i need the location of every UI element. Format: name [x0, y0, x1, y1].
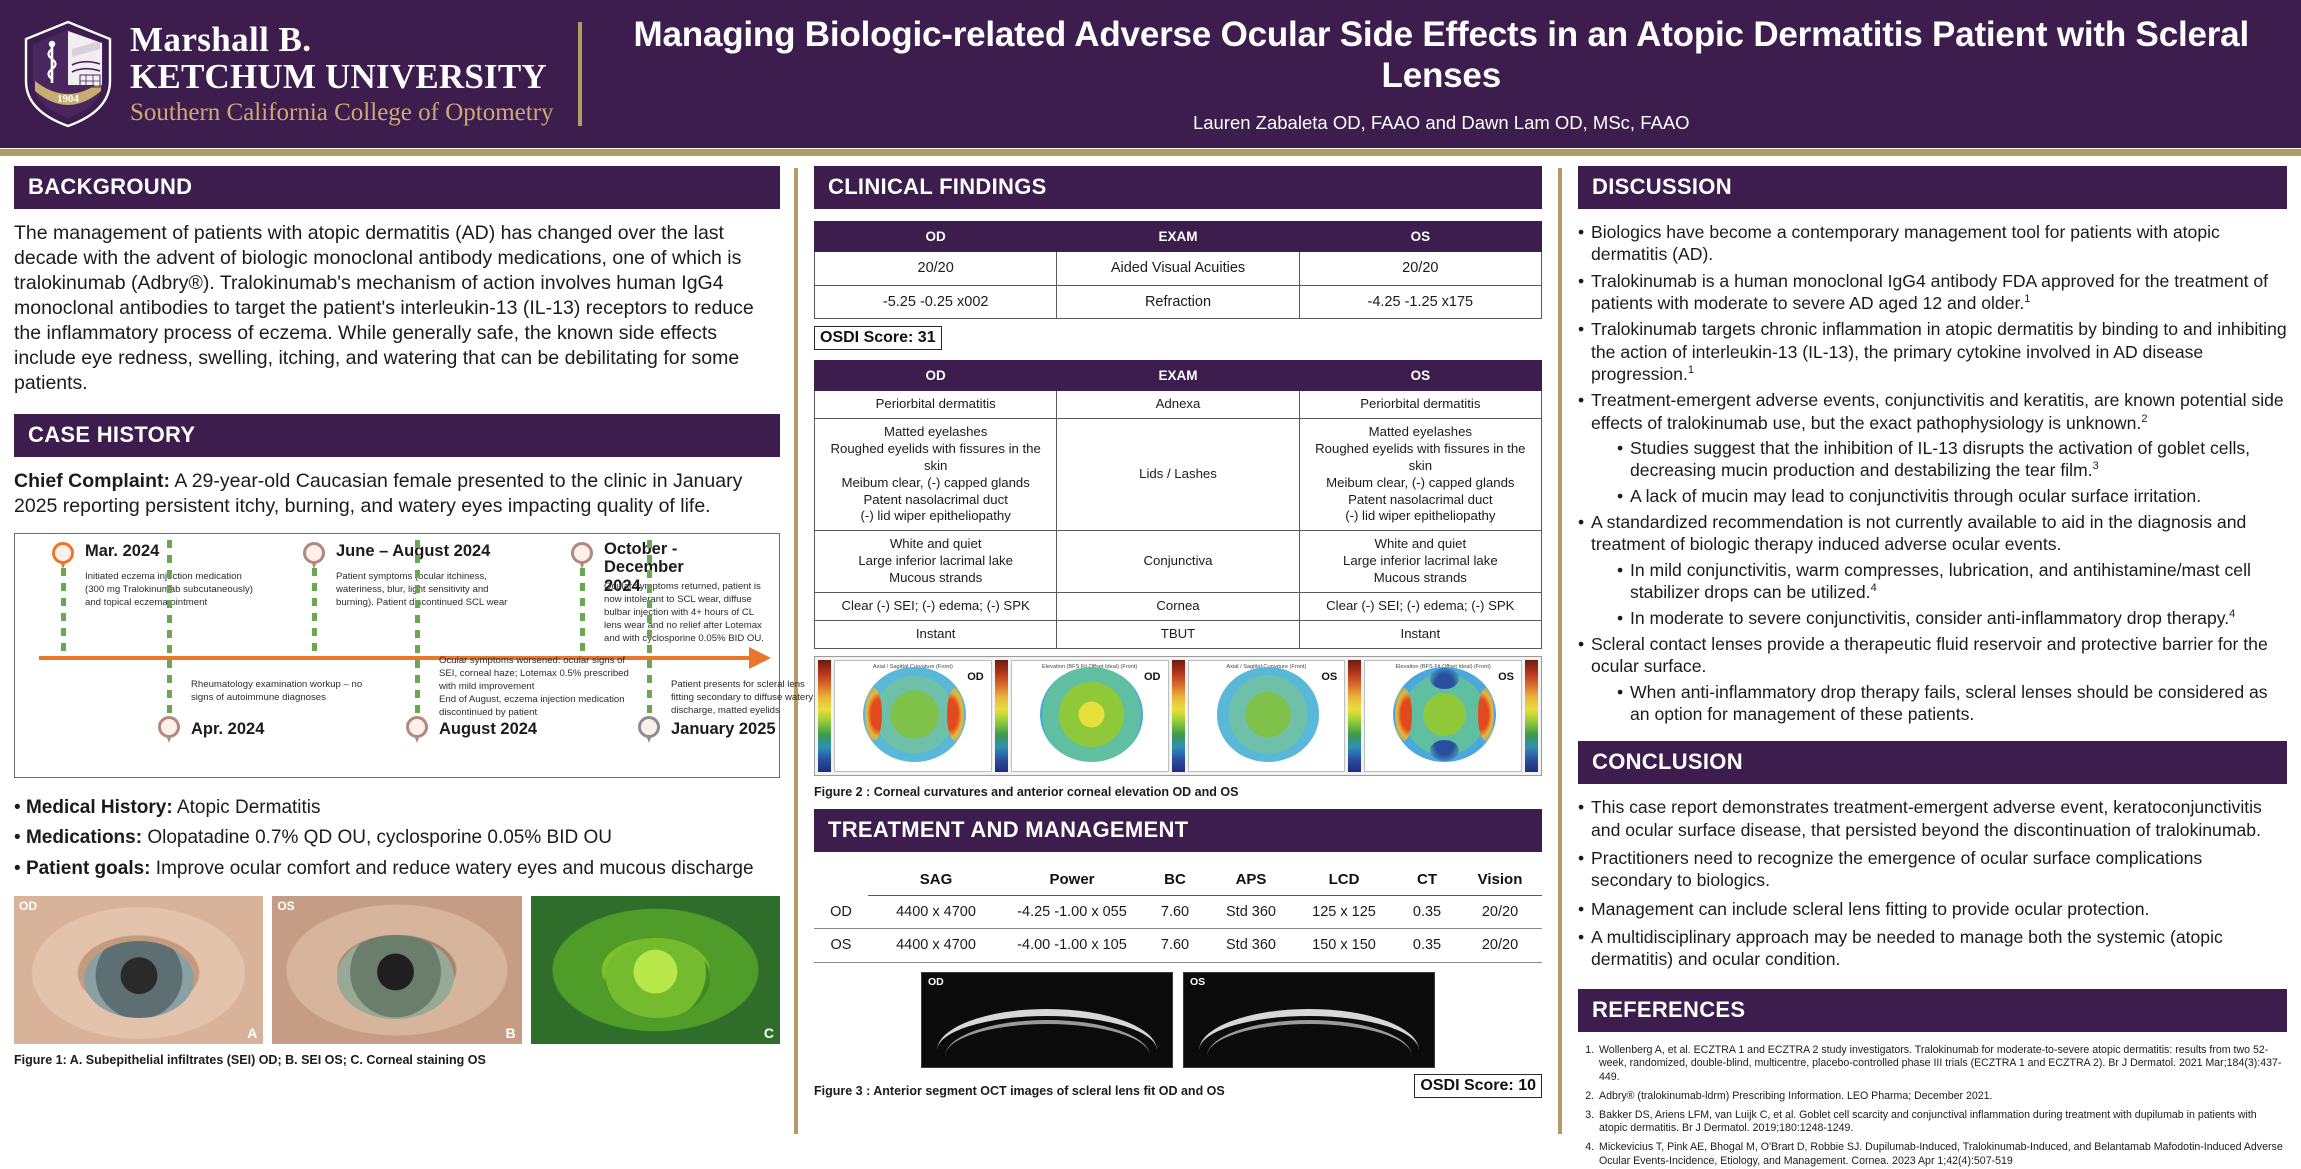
timeline-date-5: January 2025 [671, 720, 776, 738]
figure3-caption: Figure 3 : Anterior segment OCT images o… [814, 1084, 1225, 1098]
conclusion-list: This case report demonstrates treatment-… [1578, 796, 2287, 970]
topography-color-scale [1525, 660, 1538, 772]
figure3-oct-strip: OD OS [814, 972, 1542, 1068]
figure1-caption: Figure 1: A. Subepithelial infiltrates (… [14, 1053, 780, 1067]
table2-header-os: OS [1299, 361, 1541, 391]
citation-superscript: 4 [2229, 608, 2235, 620]
treatment-cell: -4.25 -1.00 x 055 [1004, 895, 1140, 929]
treatment-cell: 125 x 125 [1292, 895, 1396, 929]
treatment-cell: 0.35 [1396, 929, 1458, 963]
table1-cell: Refraction [1057, 285, 1299, 319]
treatment-cell: 7.60 [1140, 929, 1210, 963]
timeline-axis [39, 656, 749, 660]
citation-superscript: 4 [1871, 582, 1877, 594]
timeline-desc-0: Initiated eczema injection medication (3… [85, 570, 260, 609]
photo-panel-letter: B [506, 1025, 516, 1041]
table-row: Clear (-) SEI; (-) edema; (-) SPK Cornea… [815, 593, 1542, 621]
list-item: A lack of mucin may lead to conjunctivit… [1617, 485, 2287, 507]
topography-map-od-elevation: Elevation (BFS Fit Offset Ideal) (Front)… [1011, 660, 1169, 772]
header-gold-rule [0, 149, 2301, 156]
middle-column: CLINICAL FINDINGS OD EXAM OS 20/20 Aided… [798, 166, 1558, 1134]
treatment-header-vision: Vision [1458, 864, 1542, 896]
bullet-text: Improve ocular comfort and reduce watery… [151, 858, 754, 879]
figure1-photo-row: OD A OS B C [14, 896, 780, 1044]
list-item: Medications: Olopatadine 0.7% QD OU, cyc… [14, 824, 780, 852]
discussion-sublist: Studies suggest that the inhibition of I… [1617, 437, 2287, 507]
timeline-date-3: August 2024 [439, 720, 537, 738]
treatment-header-sag: SAG [868, 864, 1004, 896]
topography-map-os-elevation: Elevation (BFS Fit Offset Ideal) (Front)… [1364, 660, 1522, 772]
citation-superscript: 2 [2141, 413, 2147, 425]
table2-cell: Cornea [1057, 593, 1299, 621]
table2-cell: TBUT [1057, 620, 1299, 648]
table1-cell: -5.25 -0.25 x002 [815, 285, 1057, 319]
oct-image-od: OD [921, 972, 1173, 1068]
treatment-cell: 0.35 [1396, 895, 1458, 929]
table2-cell: White and quiet Large inferior lacrimal … [815, 531, 1057, 593]
bullet-label: Medical History: [26, 797, 173, 818]
list-item: A standardized recommendation is not cur… [1578, 511, 2287, 629]
treatment-cell: 4400 x 4700 [868, 929, 1004, 963]
list-item: Tralokinumab is a human monoclonal IgG4 … [1578, 270, 2287, 315]
table-row: OD 4400 x 4700 -4.25 -1.00 x 055 7.60 St… [814, 895, 1542, 929]
section-header-references: REFERENCES [1578, 989, 2287, 1032]
timeline-pin-icon [571, 542, 593, 570]
table2-cell: Periorbital dermatitis [815, 391, 1057, 419]
case-history-timeline: Mar. 2024 Initiated eczema injection med… [14, 533, 780, 778]
table1-header-exam: EXAM [1057, 222, 1299, 252]
university-name-line1: Marshall B. [130, 22, 554, 58]
treatment-cell: -4.00 -1.00 x 105 [1004, 929, 1140, 963]
photo-panel-letter: C [764, 1025, 774, 1041]
list-item: A multidisciplinary approach may be need… [1578, 926, 2287, 971]
section-header-background: BACKGROUND [14, 166, 780, 209]
treatment-header-ct: CT [1396, 864, 1458, 896]
bullet-label: Patient goals: [26, 858, 151, 879]
left-column: BACKGROUND The management of patients wi… [14, 166, 794, 1134]
timeline-pin-icon [638, 716, 660, 744]
table2-cell: Matted eyelashes Roughed eyelids with fi… [1299, 418, 1541, 530]
photo-eye-label: OD [19, 899, 37, 913]
list-item: Medical History: Atopic Dermatitis [14, 794, 780, 822]
table2-cell: Clear (-) SEI; (-) edema; (-) SPK [1299, 593, 1541, 621]
table-row: Periorbital dermatitis Adnexa Periorbita… [815, 391, 1542, 419]
list-item: In moderate to severe conjunctivitis, co… [1617, 607, 2287, 629]
chief-complaint: Chief Complaint: A 29-year-old Caucasian… [14, 469, 780, 519]
table1-cell: -4.25 -1.25 x175 [1299, 285, 1541, 319]
oct-eye-tag: OD [928, 976, 944, 988]
timeline-pin-icon [52, 542, 74, 570]
section-header-discussion: DISCUSSION [1578, 166, 2287, 209]
list-item: Bakker DS, Ariens LFM, van Luijk C, et a… [1597, 1109, 2287, 1137]
table1-header-os: OS [1299, 222, 1541, 252]
list-item: When anti-inflammatory drop therapy fail… [1617, 681, 2287, 726]
college-name: Southern California College of Optometry [130, 99, 554, 127]
list-item: Studies suggest that the inhibition of I… [1617, 437, 2287, 482]
table2-cell: Adnexa [1057, 391, 1299, 419]
citation-superscript: 3 [2093, 461, 2099, 473]
table-row: Matted eyelashes Roughed eyelids with fi… [815, 418, 1542, 530]
list-item: Mickevicius T, Pink AE, Bhogal M, O'Brar… [1597, 1141, 2287, 1169]
figure2-topography-strip: Axial / Sagittal Curvature (Front) OD El… [814, 656, 1542, 776]
timeline-pin-icon [303, 542, 325, 570]
list-item: In mild conjunctivitis, warm compresses,… [1617, 559, 2287, 604]
table2-cell: Matted eyelashes Roughed eyelids with fi… [815, 418, 1057, 530]
table2-cell: Lids / Lashes [1057, 418, 1299, 530]
treatment-table: SAG Power BC APS LCD CT Vision OD 4400 x… [814, 864, 1542, 963]
treatment-header-power: Power [1004, 864, 1140, 896]
treatment-cell: 4400 x 4700 [868, 895, 1004, 929]
chief-complaint-label: Chief Complaint: [14, 470, 170, 492]
topography-map-od-curvature: Axial / Sagittal Curvature (Front) OD [834, 660, 992, 772]
table1-cell: 20/20 [815, 252, 1057, 286]
timeline-pin-icon [406, 716, 428, 744]
treatment-cell: OS [814, 929, 868, 963]
svg-text:1904: 1904 [57, 93, 80, 105]
table2-header-exam: EXAM [1057, 361, 1299, 391]
topography-color-scale [818, 660, 831, 772]
case-history-bullets: Medical History: Atopic Dermatitis Medic… [14, 794, 780, 883]
photo-sei-od: OD A [14, 896, 263, 1044]
table1-cell: Aided Visual Acuities [1057, 252, 1299, 286]
citation-superscript: 1 [1688, 364, 1694, 376]
photo-panel-letter: A [247, 1025, 257, 1041]
photo-sei-os: OS B [272, 896, 521, 1044]
section-header-treatment: TREATMENT AND MANAGEMENT [814, 809, 1542, 852]
table-row: OS 4400 x 4700 -4.00 -1.00 x 105 7.60 St… [814, 929, 1542, 963]
bullet-text: Olopatadine 0.7% QD OU, cyclosporine 0.0… [142, 827, 612, 848]
list-item: Patient goals: Improve ocular comfort an… [14, 855, 780, 883]
topography-map-os-curvature: Axial / Sagittal Curvature (Front) OS [1188, 660, 1346, 772]
timeline-desc-2: Patient symptoms (ocular itchiness, wate… [336, 570, 511, 609]
topography-color-scale [995, 660, 1008, 772]
table-row: 20/20 Aided Visual Acuities 20/20 [815, 252, 1542, 286]
treatment-cell: Std 360 [1210, 895, 1292, 929]
university-logo-block: 1904 Marshall B. KETCHUM UNIVERSITY Sout… [0, 0, 572, 148]
timeline-desc-3: Ocular symptoms worsened: ocular signs o… [439, 654, 629, 719]
table2-header-od: OD [815, 361, 1057, 391]
page-title: Managing Biologic-related Adverse Ocular… [608, 14, 2275, 97]
background-paragraph: The management of patients with atopic d… [14, 221, 780, 396]
topography-eye-tag: OS [1321, 671, 1337, 683]
list-item: Management can include scleral lens fitt… [1578, 898, 2287, 920]
bullet-label: Medications: [26, 827, 142, 848]
osdi-score-badge-1: OSDI Score: 31 [814, 326, 942, 350]
references-list: Wollenberg A, et al. ECZTRA 1 and ECZTRA… [1597, 1044, 2287, 1169]
treatment-cell: 20/20 [1458, 929, 1542, 963]
table2-cell: Instant [1299, 620, 1541, 648]
osdi-score-badge-2: OSDI Score: 10 [1414, 1074, 1542, 1098]
treatment-cell: Std 360 [1210, 929, 1292, 963]
timeline-date-1: Apr. 2024 [191, 720, 264, 738]
treatment-cell: OD [814, 895, 868, 929]
table2-cell: Clear (-) SEI; (-) edema; (-) SPK [815, 593, 1057, 621]
clinical-findings-table-1: OD EXAM OS 20/20 Aided Visual Acuities 2… [814, 221, 1542, 319]
bullet-text: Atopic Dermatitis [173, 797, 321, 818]
table-row: White and quiet Large inferior lacrimal … [815, 531, 1542, 593]
discussion-list: Biologics have become a contemporary man… [1578, 221, 2287, 725]
list-item: Biologics have become a contemporary man… [1578, 221, 2287, 266]
header-divider [578, 22, 582, 126]
ketchum-shield-icon: 1904 [22, 19, 114, 129]
right-column: DISCUSSION Biologics have become a conte… [1562, 166, 2287, 1134]
table2-cell: Instant [815, 620, 1057, 648]
topography-eye-tag: OD [967, 671, 984, 683]
table1-cell: 20/20 [1299, 252, 1541, 286]
treatment-cell: 7.60 [1140, 895, 1210, 929]
list-item: Wollenberg A, et al. ECZTRA 1 and ECZTRA… [1597, 1044, 2287, 1085]
photo-corneal-staining-os: C [531, 896, 780, 1044]
list-item: Treatment-emergent adverse events, conju… [1578, 389, 2287, 507]
timeline-desc-1: Rheumatology examination workup – no sig… [191, 678, 373, 704]
table2-cell: Conjunctiva [1057, 531, 1299, 593]
list-item: Practitioners need to recognize the emer… [1578, 847, 2287, 892]
table1-header-od: OD [815, 222, 1057, 252]
section-header-conclusion: CONCLUSION [1578, 741, 2287, 784]
figure2-caption: Figure 2 : Corneal curvatures and anteri… [814, 785, 1542, 799]
topography-eye-tag: OD [1144, 671, 1161, 683]
oct-image-os: OS [1183, 972, 1435, 1068]
list-item: Tralokinumab targets chronic inflammatio… [1578, 318, 2287, 385]
discussion-sublist: In mild conjunctivitis, warm compresses,… [1617, 559, 2287, 629]
topography-eye-tag: OS [1498, 671, 1514, 683]
table-row: Instant TBUT Instant [815, 620, 1542, 648]
poster-authors: Lauren Zabaleta OD, FAAO and Dawn Lam OD… [608, 112, 2275, 134]
treatment-header-blank [814, 864, 868, 896]
clinical-findings-table-2: OD EXAM OS Periorbital dermatitis Adnexa… [814, 360, 1542, 649]
treatment-header-lcd: LCD [1292, 864, 1396, 896]
table2-cell: Periorbital dermatitis [1299, 391, 1541, 419]
topography-color-scale [1348, 660, 1361, 772]
photo-eye-label: OS [277, 899, 294, 913]
timeline-date-0: Mar. 2024 [85, 542, 159, 560]
timeline-arrow-icon [749, 647, 771, 669]
table2-cell: White and quiet Large inferior lacrimal … [1299, 531, 1541, 593]
section-header-clinical-findings: CLINICAL FINDINGS [814, 166, 1542, 209]
oct-eye-tag: OS [1190, 976, 1205, 988]
timeline-date-2: June – August 2024 [336, 542, 490, 560]
section-header-case-history: CASE HISTORY [14, 414, 780, 457]
treatment-cell: 20/20 [1458, 895, 1542, 929]
citation-superscript: 1 [2024, 293, 2030, 305]
list-item: Scleral contact lenses provide a therape… [1578, 633, 2287, 725]
timeline-pin-icon [158, 716, 180, 744]
poster-header: 1904 Marshall B. KETCHUM UNIVERSITY Sout… [0, 0, 2301, 148]
treatment-header-bc: BC [1140, 864, 1210, 896]
timeline-desc-4: Ocular symptoms returned, patient is now… [604, 580, 774, 645]
treatment-cell: 150 x 150 [1292, 929, 1396, 963]
list-item: Adbry® (tralokinumab-ldrm) Prescribing I… [1597, 1090, 2287, 1104]
treatment-header-aps: APS [1210, 864, 1292, 896]
discussion-sublist: When anti-inflammatory drop therapy fail… [1617, 681, 2287, 726]
university-name-line2: KETCHUM UNIVERSITY [130, 58, 554, 95]
list-item: This case report demonstrates treatment-… [1578, 796, 2287, 841]
table-row: -5.25 -0.25 x002 Refraction -4.25 -1.25 … [815, 285, 1542, 319]
topography-color-scale [1172, 660, 1185, 772]
